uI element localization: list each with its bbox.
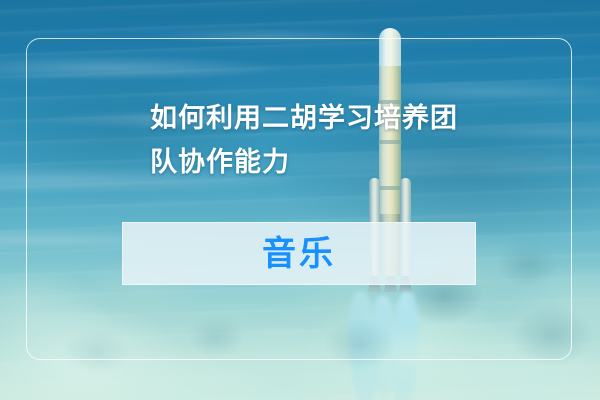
banner-title: 如何利用二胡学习培养团队协作能力 xyxy=(150,96,470,184)
promo-banner: 如何利用二胡学习培养团队协作能力 音乐 xyxy=(0,0,600,400)
exhaust-plume xyxy=(372,296,394,400)
sky-background xyxy=(0,0,600,400)
smoke-shading-layer xyxy=(0,0,600,400)
cirrus-streaks-layer xyxy=(0,0,600,400)
cloud-wisps-layer xyxy=(0,0,600,400)
rocket-band xyxy=(378,186,402,190)
smoke-cloud-icon xyxy=(0,0,600,400)
rocket-nose-cone xyxy=(379,28,401,70)
sky-haze-layer xyxy=(0,0,600,400)
exhaust-plume xyxy=(389,291,421,400)
decorative-frame xyxy=(26,38,572,360)
category-label: 音乐 xyxy=(262,237,336,271)
category-box[interactable]: 音乐 xyxy=(122,222,476,285)
